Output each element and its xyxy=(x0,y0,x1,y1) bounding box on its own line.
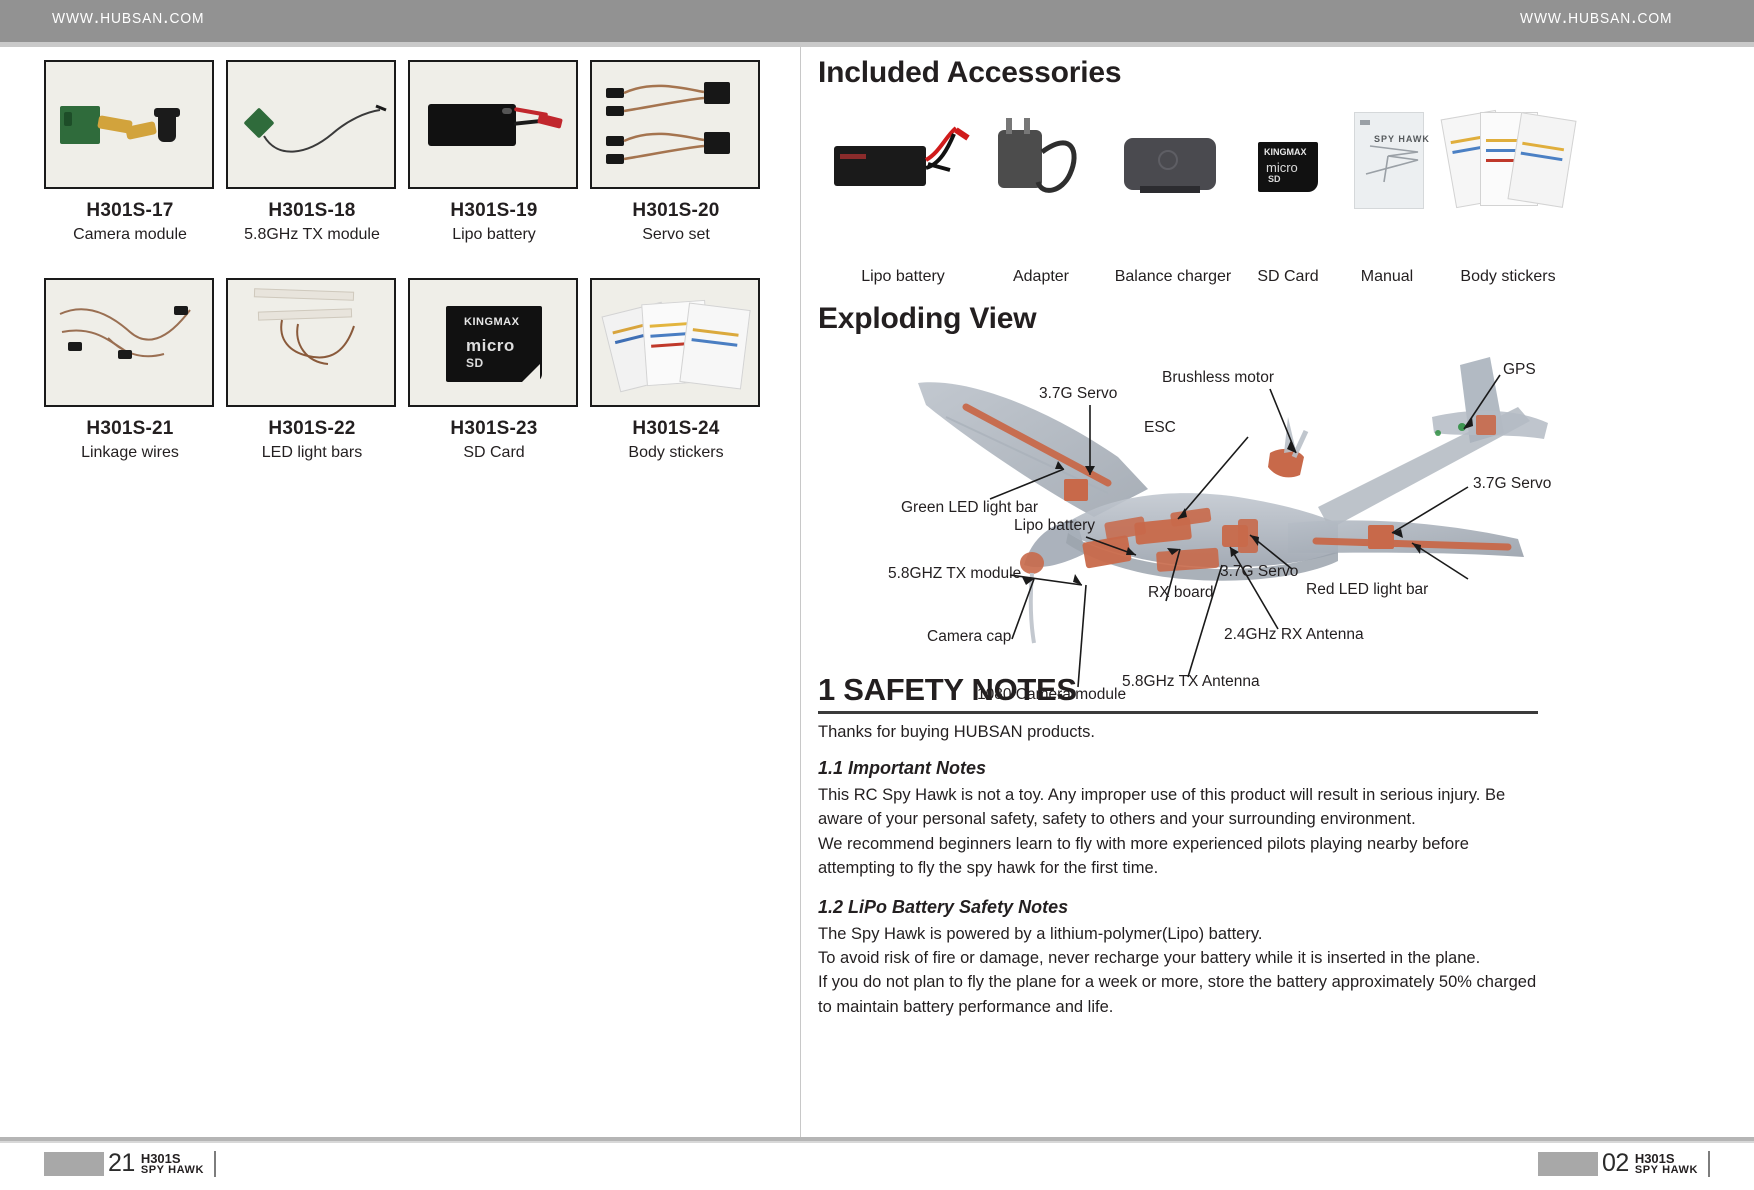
part-name: SD Card xyxy=(408,444,580,462)
label-esc: ESC xyxy=(1144,419,1176,436)
lipo-battery-photo xyxy=(408,60,578,189)
part-code: H301S-23 xyxy=(408,418,580,440)
accessory-label: Adapter xyxy=(976,268,1106,286)
part-name: Lipo battery xyxy=(408,226,580,244)
accessory-label: Lipo battery xyxy=(828,268,978,286)
model-subname: SPY HAWK xyxy=(1635,1165,1698,1176)
safety-subheading-1-1: 1.1 Important Notes xyxy=(818,758,1538,779)
watermark-right: www.hubsan.com xyxy=(1520,5,1672,29)
balance-charger-icon xyxy=(1100,112,1246,207)
camera-module-photo xyxy=(44,60,214,189)
part-name: Linkage wires xyxy=(44,444,216,462)
led-light-bars-photo xyxy=(226,278,396,407)
model-badge-right: H301S SPY HAWK xyxy=(1635,1152,1698,1176)
column-divider xyxy=(800,47,801,1137)
body-stickers-icon xyxy=(1428,112,1588,207)
safety-subheading-1-2: 1.2 LiPo Battery Safety Notes xyxy=(818,897,1538,918)
label-lipo-battery: Lipo battery xyxy=(1014,517,1095,534)
lipo-battery-icon xyxy=(828,112,978,207)
part-code: H301S-19 xyxy=(408,200,580,222)
linkage-wires-photo xyxy=(44,278,214,407)
safety-notes-section: 1 SAFETY NOTES Thanks for buying HUBSAN … xyxy=(818,672,1538,1019)
safety-heading: 1 SAFETY NOTES xyxy=(818,672,1538,708)
page-block-right xyxy=(1538,1152,1598,1176)
sd-card-photo: KINGMAX micro SD xyxy=(408,278,578,407)
accessory-adapter[interactable]: Adapter xyxy=(976,112,1106,232)
part-code: H301S-20 xyxy=(590,200,762,222)
part-name: Servo set xyxy=(590,226,762,244)
safety-paragraph-1: This RC Spy Hawk is not a toy. Any impro… xyxy=(818,783,1538,832)
model-subname: SPY HAWK xyxy=(141,1165,204,1176)
airplane-diagram-graphic xyxy=(818,347,1554,712)
parts-grid: H301S-17 Camera module H301S-18 5.8GHz T… xyxy=(44,60,764,478)
safety-paragraph-2: We recommend beginners learn to fly with… xyxy=(818,832,1538,881)
parts-row-1: H301S-17 Camera module H301S-18 5.8GHz T… xyxy=(44,60,764,260)
label-red-led-light-bar: Red LED light bar xyxy=(1306,581,1428,598)
accessories-strip: Lipo battery Adapter Balance charger xyxy=(828,112,1538,232)
label-green-led-light-bar: Green LED light bar xyxy=(901,499,1038,516)
page-footer-left: 21 H301S SPY HAWK xyxy=(44,1147,216,1180)
accessory-body-stickers[interactable]: Body stickers xyxy=(1428,112,1588,232)
watermark-left: www.hubsan.com xyxy=(52,5,204,29)
part-code: H301S-22 xyxy=(226,418,398,440)
part-code: H301S-21 xyxy=(44,418,216,440)
page-number-right: 02 xyxy=(1602,1149,1629,1178)
page-number-left: 21 xyxy=(108,1149,135,1178)
footer-rule-light xyxy=(0,1141,1754,1143)
accessory-lipo-battery[interactable]: Lipo battery xyxy=(828,112,978,232)
part-cell-h301s-23[interactable]: KINGMAX micro SD H301S-23 SD Card xyxy=(408,278,580,462)
label-brushless-motor: Brushless motor xyxy=(1162,369,1274,386)
label-gps: GPS xyxy=(1503,361,1536,378)
part-name: Camera module xyxy=(44,226,216,244)
accessory-label: Balance charger xyxy=(1100,268,1246,286)
accessories-heading: Included Accessories xyxy=(818,56,1121,90)
footer-divider-left xyxy=(214,1151,216,1177)
model-name: H301S xyxy=(141,1152,204,1165)
part-cell-h301s-22[interactable]: H301S-22 LED light bars xyxy=(226,278,398,462)
safety-heading-rule xyxy=(818,711,1538,714)
part-code: H301S-24 xyxy=(590,418,762,440)
label-rx-board: RX board xyxy=(1148,584,1213,601)
exploding-view-heading: Exploding View xyxy=(818,302,1036,336)
servo-set-photo xyxy=(590,60,760,189)
part-cell-h301s-17[interactable]: H301S-17 Camera module xyxy=(44,60,216,244)
body-stickers-photo xyxy=(590,278,760,407)
part-name: LED light bars xyxy=(226,444,398,462)
label-3-7g-servo-right: 3.7G Servo xyxy=(1473,475,1551,492)
safety-paragraph-4: To avoid risk of fire or damage, never r… xyxy=(818,946,1538,970)
label-3-7g-servo-left: 3.7G Servo xyxy=(1039,385,1117,402)
parts-row-2: H301S-21 Linkage wires H301S-22 LED lig xyxy=(44,278,764,478)
accessory-label: Body stickers xyxy=(1428,268,1588,286)
label-3-7g-servo-mid: 3.7G Servo xyxy=(1220,563,1298,580)
safety-paragraph-3: The Spy Hawk is powered by a lithium-pol… xyxy=(818,922,1538,946)
power-adapter-icon xyxy=(976,112,1106,207)
label-2-4ghz-rx-antenna: 2.4GHz RX Antenna xyxy=(1224,626,1364,643)
safety-paragraph-5: If you do not plan to fly the plane for … xyxy=(818,970,1538,1019)
parts-column: H301S-17 Camera module H301S-18 5.8GHz T… xyxy=(0,47,800,1137)
part-cell-h301s-20[interactable]: H301S-20 Servo set xyxy=(590,60,762,244)
model-name: H301S xyxy=(1635,1152,1698,1165)
label-5-8ghz-tx-module: 5.8GHZ TX module xyxy=(888,565,1021,582)
part-code: H301S-18 xyxy=(226,200,398,222)
safety-lead-text: Thanks for buying HUBSAN products. xyxy=(818,723,1538,742)
part-name: 5.8GHz TX module xyxy=(226,226,398,244)
header-bar xyxy=(0,0,1754,42)
footer-divider-right xyxy=(1708,1151,1710,1177)
part-cell-h301s-21[interactable]: H301S-21 Linkage wires xyxy=(44,278,216,462)
accessory-balance-charger[interactable]: Balance charger xyxy=(1100,112,1246,232)
label-camera-cap: Camera cap xyxy=(927,628,1011,645)
page-block-left xyxy=(44,1152,104,1176)
part-cell-h301s-18[interactable]: H301S-18 5.8GHz TX module xyxy=(226,60,398,244)
part-cell-h301s-24[interactable]: H301S-24 Body stickers xyxy=(590,278,762,462)
exploding-view-diagram: 3.7G Servo Brushless motor GPS ESC 3.7G … xyxy=(818,347,1554,707)
tx-module-photo xyxy=(226,60,396,189)
part-cell-h301s-19[interactable]: H301S-19 Lipo battery xyxy=(408,60,580,244)
part-name: Body stickers xyxy=(590,444,762,462)
model-badge-left: H301S SPY HAWK xyxy=(141,1152,204,1176)
page-footer-right: 02 H301S SPY HAWK xyxy=(1538,1147,1710,1180)
part-code: H301S-17 xyxy=(44,200,216,222)
